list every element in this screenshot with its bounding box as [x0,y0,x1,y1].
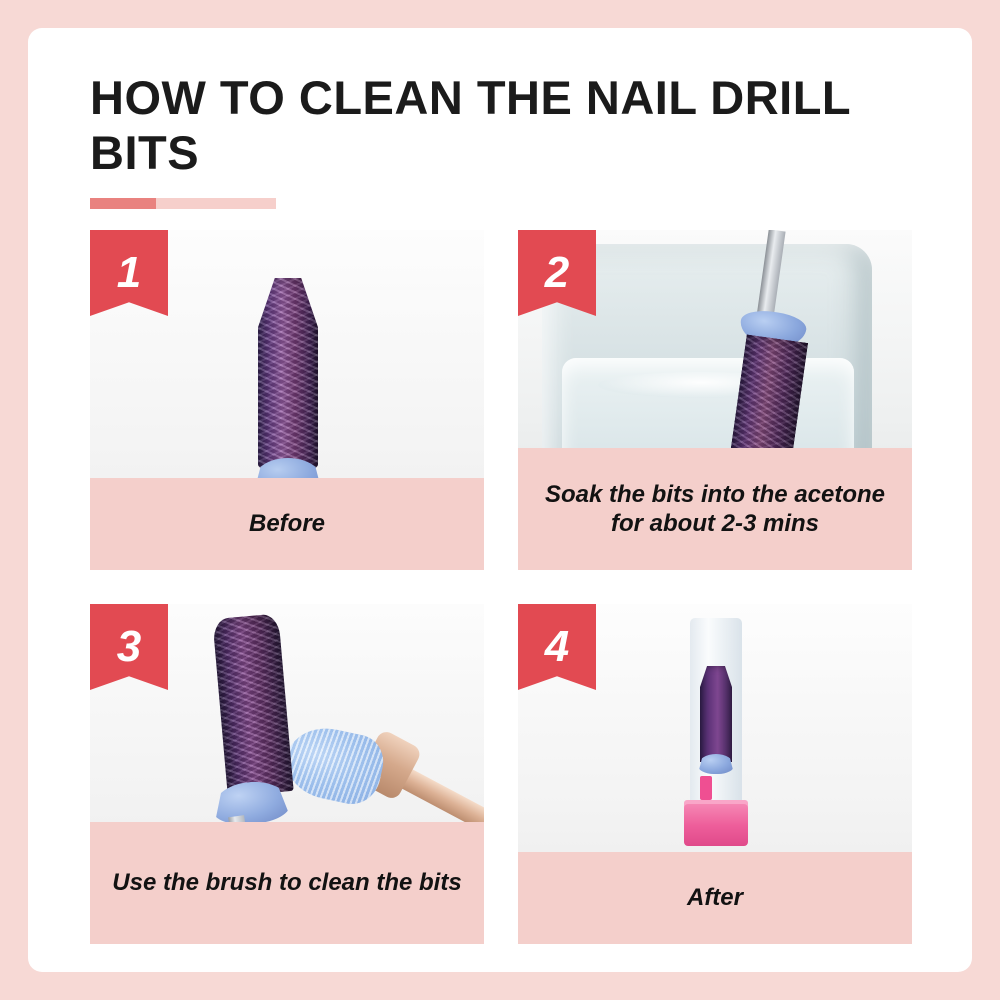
title-underline [90,198,276,209]
step-card-1: 1 Before [90,230,484,570]
drill-bit-icon [700,666,732,762]
underline-segment-accent [90,198,156,209]
holder-label-icon [700,776,712,800]
infographic-page: HOW TO CLEAN THE NAIL DRILL BITS 1 Befor… [28,28,972,972]
step-caption-3: Use the brush to clean the bits [90,822,484,944]
step-caption-1: Before [90,478,484,570]
steps-grid: 1 Before 2 Soak the bits into the aceton… [90,230,912,944]
step-caption-4: After [518,852,912,944]
step-card-4: 4 After [518,604,912,944]
drill-bit-icon [258,278,318,468]
step-card-2: 2 Soak the bits into the acetone for abo… [518,230,912,570]
underline-segment-light [156,198,276,209]
bit-collar-icon [698,754,734,774]
step-card-3: 3 Use the brush to clean the bits [90,604,484,944]
step-caption-2: Soak the bits into the acetone for about… [518,448,912,570]
holder-base-icon [684,804,748,846]
page-title: HOW TO CLEAN THE NAIL DRILL BITS [90,70,920,181]
